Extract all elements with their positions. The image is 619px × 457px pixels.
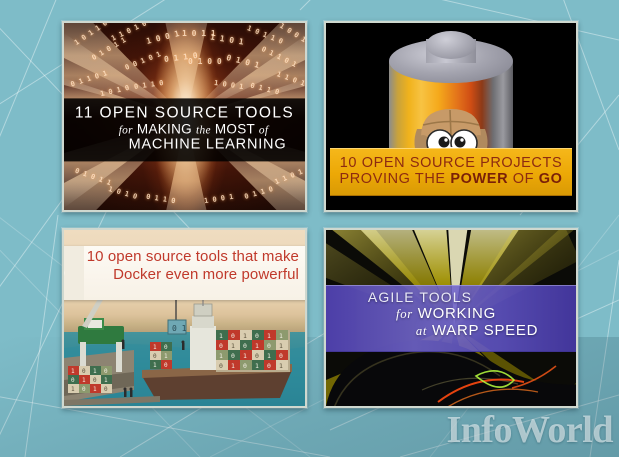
svg-text:1: 1	[243, 332, 247, 340]
go-word-of: OF	[513, 171, 534, 187]
svg-text:1: 1	[243, 352, 247, 360]
svg-text:0: 0	[71, 377, 75, 384]
svg-text:1: 1	[267, 332, 271, 340]
go-word-go: GO	[539, 171, 563, 187]
svg-text:0: 0	[243, 342, 247, 350]
svg-text:1: 1	[267, 352, 271, 360]
svg-text:0: 0	[231, 352, 235, 360]
svg-text:0: 0	[82, 386, 86, 393]
svg-text:1: 1	[255, 342, 259, 350]
svg-text:0: 0	[267, 342, 271, 350]
agile-word-for: for	[396, 307, 413, 321]
svg-text:0: 0	[243, 362, 247, 370]
agile-word-warp-speed: WARP SPEED	[432, 322, 538, 339]
svg-text:0 1: 0 1	[172, 324, 187, 333]
infoworld-watermark: InfoWorld	[446, 408, 613, 452]
docker-headline-line2: Docker even more powerful	[64, 266, 299, 284]
slide-thumbnail-docker-tools[interactable]: 0 1 1 0 1	[62, 228, 307, 408]
svg-text:0: 0	[104, 368, 108, 375]
svg-text:1: 1	[231, 342, 235, 350]
svg-text:0: 0	[153, 353, 157, 360]
ml-headline-line3: MACHINE LEARNING	[64, 137, 305, 153]
svg-text:1: 1	[255, 362, 259, 370]
svg-text:1: 1	[93, 386, 97, 393]
svg-text:0: 0	[104, 386, 108, 393]
agile-headline-line1: AGILE TOOLS	[326, 289, 576, 305]
ml-word-making: MAKING	[137, 122, 192, 137]
svg-text:0: 0	[164, 344, 168, 351]
svg-text:0: 0	[279, 352, 283, 360]
svg-text:1: 1	[231, 362, 235, 370]
svg-text:0: 0	[255, 352, 259, 360]
svg-text:0: 0	[164, 362, 168, 369]
svg-text:0: 0	[219, 362, 223, 370]
svg-text:1: 1	[279, 362, 283, 370]
slide-thumbnail-machine-learning[interactable]: 1 0 1 1 0 0 1 0 1 1 1 1 0 1 0 0 0 1 0 1 …	[62, 21, 307, 212]
ml-headline-line2: for MAKING the MOST of	[64, 122, 305, 138]
slide-thumbnail-go-projects[interactable]: 10 OPEN SOURCE PROJECTS PROVING THE POWE…	[324, 21, 578, 212]
svg-text:0: 0	[231, 332, 235, 340]
agile-word-working: WORKING	[418, 305, 496, 322]
svg-text:1: 1	[279, 342, 283, 350]
agile-headline-line2: for WORKING	[326, 305, 576, 323]
docker-headline-line1: 10 open source tools that make	[64, 248, 299, 266]
svg-text:0: 0	[255, 332, 259, 340]
ml-word-most: MOST	[215, 122, 255, 137]
ml-word-for: for	[119, 125, 133, 137]
svg-text:1: 1	[153, 344, 157, 351]
agile-word-at: at	[416, 324, 427, 338]
svg-text:0: 0	[93, 377, 97, 384]
go-word-proving: PROVING THE	[339, 171, 445, 187]
svg-text:0: 0	[219, 342, 223, 350]
slideshow-grid: 1 0 1 1 0 0 1 0 1 1 1 1 0 1 0 0 0 1 0 1 …	[0, 0, 619, 457]
svg-text:1: 1	[71, 368, 75, 375]
go-headline-line1: 10 OPEN SOURCE PROJECTS	[330, 155, 572, 172]
ml-headline-line1: 11 OPEN SOURCE TOOLS	[64, 105, 305, 122]
agile-headline-line3: at WARP SPEED	[326, 322, 576, 340]
slide-thumbnail-agile-tools[interactable]: AGILE TOOLS for WORKING at WARP SPEED	[324, 228, 578, 408]
svg-text:1: 1	[153, 362, 157, 369]
go-headline-band: 10 OPEN SOURCE PROJECTS PROVING THE POWE…	[330, 148, 572, 196]
svg-text:0: 0	[82, 368, 86, 375]
go-headline-line2: PROVING THE POWER OF GO	[330, 171, 572, 188]
ml-word-the: the	[196, 125, 211, 137]
agile-headline-text: AGILE TOOLS for WORKING at WARP SPEED	[326, 285, 576, 350]
svg-text:1: 1	[71, 386, 75, 393]
svg-text:0: 0	[267, 362, 271, 370]
svg-text:1: 1	[219, 332, 223, 340]
svg-text:1: 1	[82, 377, 86, 384]
svg-text:1: 1	[219, 352, 223, 360]
machine-learning-headline-band: 11 OPEN SOURCE TOOLS for MAKING the MOST…	[64, 98, 305, 161]
go-word-power: POWER	[450, 171, 508, 187]
svg-text:1: 1	[104, 377, 108, 384]
svg-text:1: 1	[279, 332, 283, 340]
svg-text:1: 1	[164, 353, 168, 360]
docker-headline-text: 10 open source tools that make Docker ev…	[64, 248, 299, 285]
ml-word-of: of	[259, 125, 268, 137]
svg-text:1: 1	[93, 368, 97, 375]
